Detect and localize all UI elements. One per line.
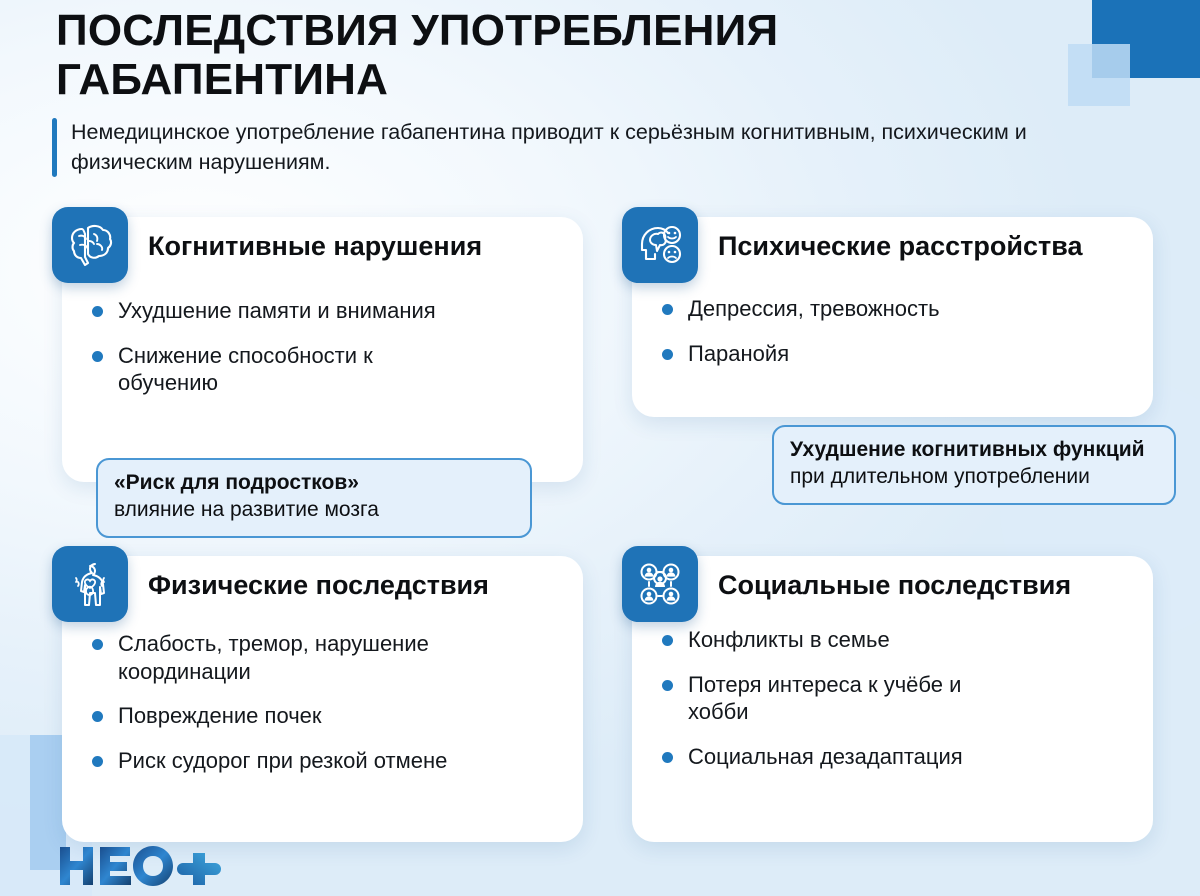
card-title-social: Социальные последствия	[718, 570, 1071, 601]
card-title-physical: Физические последствия	[148, 570, 489, 601]
bullet-list-psychiatric: Депрессия, тревожность Паранойя	[658, 295, 1038, 384]
body-organs-icon	[52, 546, 128, 622]
bullet-list-cognitive: Ухудшение памяти и внимания Снижение спо…	[88, 297, 448, 414]
page-title: ПОСЛЕДСТВИЯ УПОТРЕБЛЕНИЯ ГАБАПЕНТИНА	[56, 6, 1036, 105]
callout-long-term-rest: при длительном употреблении	[790, 465, 1090, 488]
subtitle-accent-bar	[52, 118, 57, 177]
list-item: Риск судорог при резкой отмене	[88, 747, 488, 775]
list-item: Паранойя	[658, 340, 1038, 368]
list-item: Конфликты в семье	[658, 626, 988, 654]
list-item: Потеря интереса к учёбе и хобби	[658, 671, 988, 726]
list-item: Депрессия, тревожность	[658, 295, 1038, 323]
people-network-icon	[622, 546, 698, 622]
infographic-canvas: ПОСЛЕДСТВИЯ УПОТРЕБЛЕНИЯ ГАБАПЕНТИНА Нем…	[0, 0, 1200, 896]
card-title-cognitive: Когнитивные нарушения	[148, 231, 482, 262]
bullet-list-physical: Слабость, тремор, нарушение координации …	[88, 630, 488, 792]
bullet-list-social: Конфликты в семье Потеря интереса к учёб…	[658, 626, 988, 788]
callout-teen-risk: «Риск для подростков» влияние на развити…	[96, 458, 532, 538]
head-emotions-icon	[622, 207, 698, 283]
list-item: Снижение способности к обучению	[88, 342, 448, 397]
brand-logo-neo-plus	[58, 843, 233, 889]
list-item: Социальная дезадаптация	[658, 743, 988, 771]
callout-long-term-bold: Ухудшение когнитивных функций	[790, 438, 1145, 461]
decor-square-top-right-light	[1068, 44, 1130, 106]
list-item: Повреждение почек	[88, 702, 488, 730]
page-subtitle: Немедицинское употребление габапентина п…	[71, 118, 1032, 177]
brain-icon	[52, 207, 128, 283]
callout-long-term: Ухудшение когнитивных функций при длител…	[772, 425, 1176, 505]
list-item: Ухудшение памяти и внимания	[88, 297, 448, 325]
card-title-psychiatric: Психические расстройства	[718, 231, 1082, 262]
subtitle-block: Немедицинское употребление габапентина п…	[52, 118, 1032, 177]
list-item: Слабость, тремор, нарушение координации	[88, 630, 488, 685]
callout-teen-risk-bold: «Риск для подростков»	[114, 471, 359, 494]
callout-teen-risk-rest: влияние на развитие мозга	[114, 498, 379, 521]
